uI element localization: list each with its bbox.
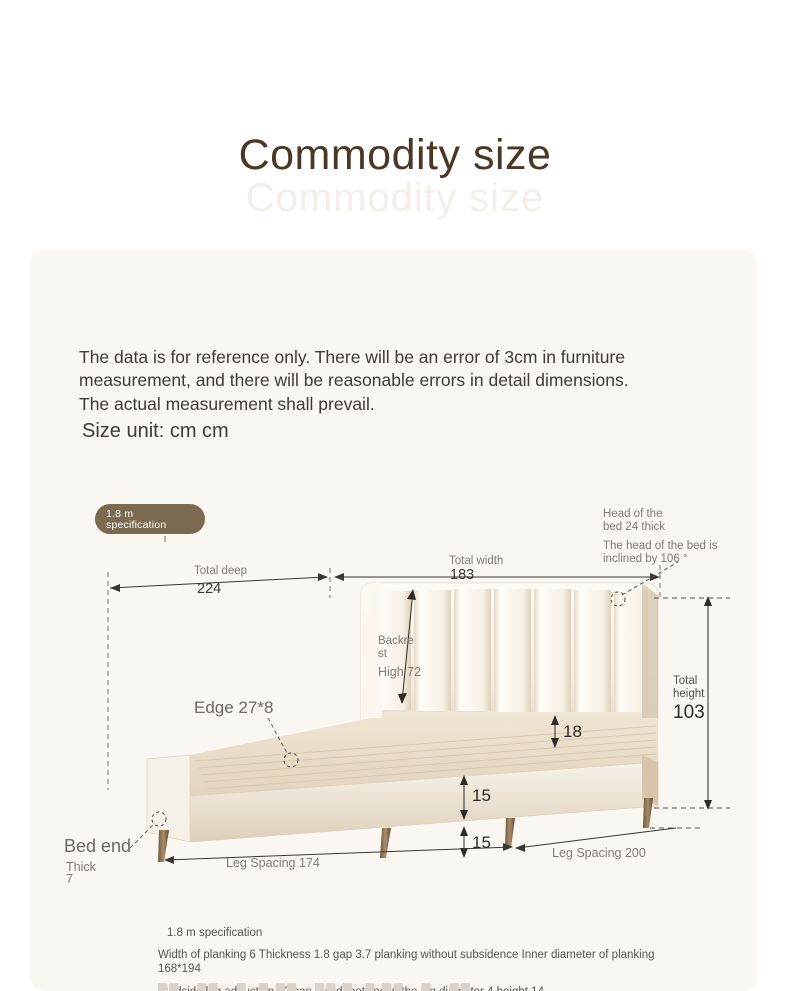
leg-front-right	[505, 818, 515, 848]
edge-label: Edge 27*8	[194, 698, 273, 718]
headboard-panels	[374, 589, 648, 712]
total-width-label: Total width	[449, 555, 503, 568]
badge-line-2: specification	[106, 520, 205, 531]
leg-front-mid	[380, 828, 391, 858]
bottom-watermark: ██░ ██░ █░█ ██ ░██ █░█ ██░ █░ ██	[158, 983, 688, 991]
spec-heading: 1.8 m specification	[167, 926, 688, 941]
frame-height-value: 15	[472, 786, 491, 806]
spec-planking: Width of planking 6 Thickness 1.8 gap 3.…	[158, 948, 688, 977]
backrest-high-value: High 72	[378, 665, 421, 679]
total-height-label: Total height	[673, 675, 704, 701]
slats	[195, 726, 656, 789]
specification-details: 1.8 m specification Width of planking 6 …	[158, 926, 688, 991]
backrest-label: Backre st	[378, 635, 414, 661]
leg-rear-right	[643, 798, 653, 828]
total-deep-label: Total deep	[194, 565, 247, 578]
slat-deck	[190, 718, 658, 796]
thick-value: 7	[66, 872, 73, 886]
diagram-card: The data is for reference only. There wi…	[30, 250, 757, 991]
leg-spacing-left-label: Leg Spacing 174	[226, 856, 320, 870]
leg-spacing-right-label: Leg Spacing 200	[552, 846, 646, 860]
bed-end-label: Bed end	[64, 836, 131, 857]
headboard-gap-value: 18	[563, 722, 582, 742]
specification-badge: 1.8 m specification	[95, 504, 205, 534]
product-size-infographic: Commodity size Commodity size The data i…	[0, 0, 790, 991]
total-width-value: 183	[450, 567, 474, 583]
disclaimer-text: The data is for reference only. There wi…	[79, 346, 639, 416]
side-rail	[190, 762, 658, 842]
leg-front-left	[158, 830, 169, 862]
page-title: Commodity size	[0, 131, 790, 180]
total-height-value: 103	[673, 702, 705, 724]
head-incline-note: The head of the bed is inclined by 106 °	[603, 540, 717, 566]
size-unit-text: Size unit: cm cm	[82, 420, 229, 443]
head-thickness-note: Head of the bed 24 thick	[603, 508, 665, 534]
title-watermark: Commodity size	[0, 176, 790, 221]
total-deep-value: 224	[197, 581, 221, 597]
bed-end-rail	[147, 755, 190, 842]
leg-height-value: 15	[472, 833, 491, 853]
